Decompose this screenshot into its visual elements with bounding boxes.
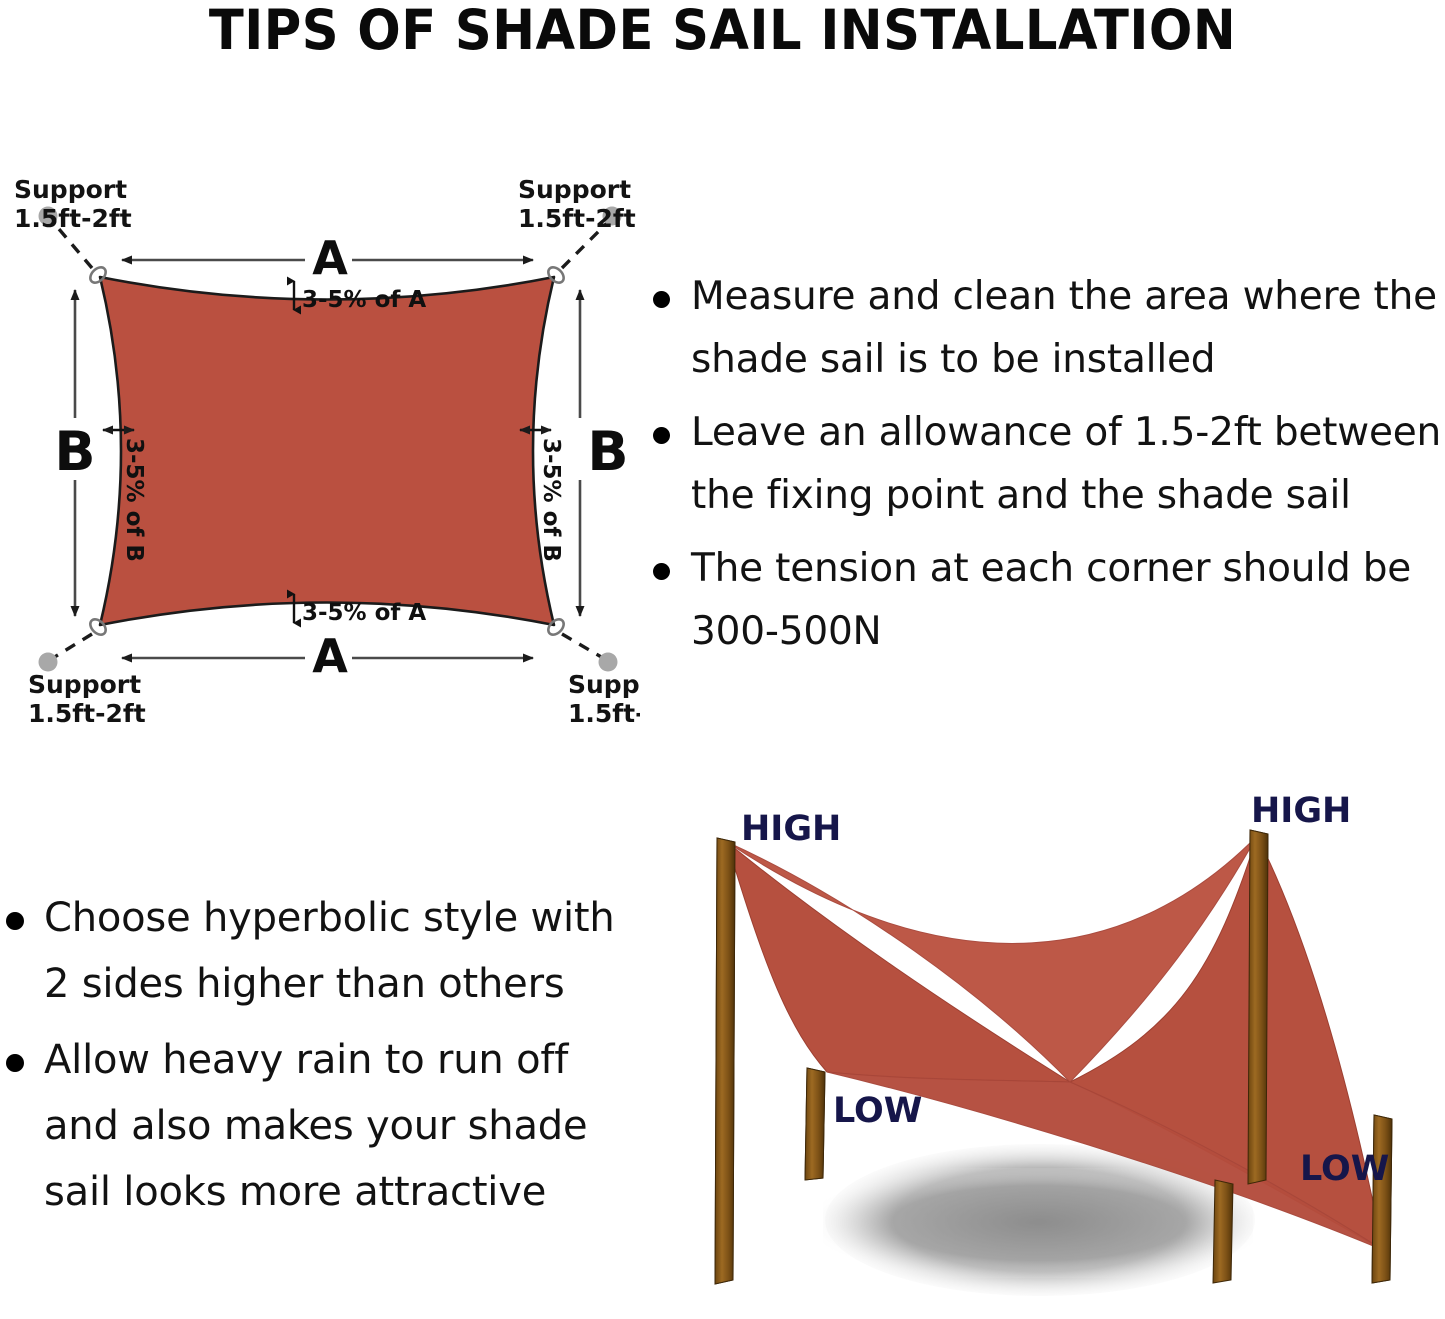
- dimension-label-b-left: B: [54, 420, 95, 483]
- post-mid-right-front: [1213, 1180, 1233, 1283]
- list-item: The tension at each corner should be 300…: [645, 537, 1445, 663]
- dimension-label-a-top: A: [312, 231, 348, 285]
- tip-line: Choose hyperbolic style with: [44, 895, 615, 941]
- hyperbolic-sail-svg: HIGH HIGH LOW LOW: [655, 780, 1445, 1319]
- label-high-left: HIGH: [741, 809, 841, 849]
- anchor-dot-bottom-right: [599, 653, 618, 672]
- sag-label-top: 3-5% of A: [302, 287, 426, 313]
- hyperbolic-sail-diagram: HIGH HIGH LOW LOW: [655, 780, 1445, 1319]
- support-bottom-left-line1: Support: [28, 670, 141, 699]
- tip-line: shade sail is to be installed: [691, 337, 1215, 382]
- list-item: Leave an allowance of 1.5-2ft between th…: [645, 401, 1445, 527]
- label-low-left: LOW: [833, 1091, 922, 1131]
- tips-list-upper: Measure and clean the area where the sha…: [645, 265, 1445, 663]
- sag-callout-top: 3-5% of A: [294, 281, 426, 313]
- support-bottom-right-line1: Support: [568, 670, 640, 699]
- label-high-right: HIGH: [1251, 791, 1351, 831]
- dimension-label-a-bottom: A: [312, 629, 348, 683]
- sail-shape-group: [100, 277, 554, 625]
- tips-panel-lower-left: Choose hyperbolic style with 2 sides hig…: [0, 885, 630, 1235]
- post-low-left-front: [805, 1068, 825, 1180]
- tether-bottom-left: [53, 634, 92, 658]
- support-top-left-line1: Support: [14, 175, 127, 204]
- post-high-right-front: [1248, 830, 1268, 1184]
- support-bottom-left-line2: 1.5ft-2ft: [28, 699, 146, 728]
- rectangle-sail-svg: A A B B 3-5% of A 3-5% of A: [0, 150, 640, 730]
- label-low-right: LOW: [1300, 1149, 1389, 1189]
- shade-sail-fabric: [100, 277, 554, 625]
- tether-bottom-right: [562, 634, 603, 658]
- support-bottom-right-line2: 1.5ft-2ft: [568, 699, 640, 728]
- sag-label-right: 3-5% of B: [538, 438, 564, 562]
- ground-shadow-rect: [823, 1168, 1253, 1278]
- tip-line: sail looks more attractive: [44, 1169, 546, 1215]
- post-low-right-front: [1372, 1115, 1392, 1283]
- tip-line: Measure and clean the area where the: [691, 274, 1437, 319]
- tip-line: 300-500N: [691, 609, 882, 654]
- tip-line: and also makes your shade: [44, 1103, 587, 1149]
- tip-line: Allow heavy rain to run off: [44, 1037, 568, 1083]
- rectangle-sail-diagram: A A B B 3-5% of A 3-5% of A: [0, 150, 640, 730]
- tips-panel-upper-right: Measure and clean the area where the sha…: [645, 265, 1445, 673]
- support-top-right-line1: Support: [518, 175, 631, 204]
- page-title: TIPS OF SHADE SAIL INSTALLATION: [51, 0, 1395, 60]
- support-top-left-line2: 1.5ft-2ft: [14, 204, 132, 233]
- sag-label-left: 3-5% of B: [121, 438, 147, 562]
- list-item: Choose hyperbolic style with 2 sides hig…: [0, 885, 630, 1017]
- tip-line: Leave an allowance of 1.5-2ft between: [691, 410, 1441, 455]
- sag-callout-left: 3-5% of B: [103, 430, 147, 562]
- sag-label-bottom: 3-5% of A: [302, 600, 426, 626]
- support-top-right-line2: 1.5ft-2ft: [518, 204, 636, 233]
- dimension-label-b-right: B: [587, 420, 628, 483]
- tip-line: The tension at each corner should be: [691, 546, 1411, 591]
- anchor-dot-bottom-left: [39, 653, 58, 672]
- tip-line: the fixing point and the shade sail: [691, 473, 1351, 518]
- tip-line: 2 sides higher than others: [44, 961, 564, 1007]
- list-item: Measure and clean the area where the sha…: [645, 265, 1445, 391]
- list-item: Allow heavy rain to run off and also mak…: [0, 1027, 630, 1225]
- post-high-left-front: [715, 838, 735, 1284]
- tips-list-lower: Choose hyperbolic style with 2 sides hig…: [0, 885, 630, 1225]
